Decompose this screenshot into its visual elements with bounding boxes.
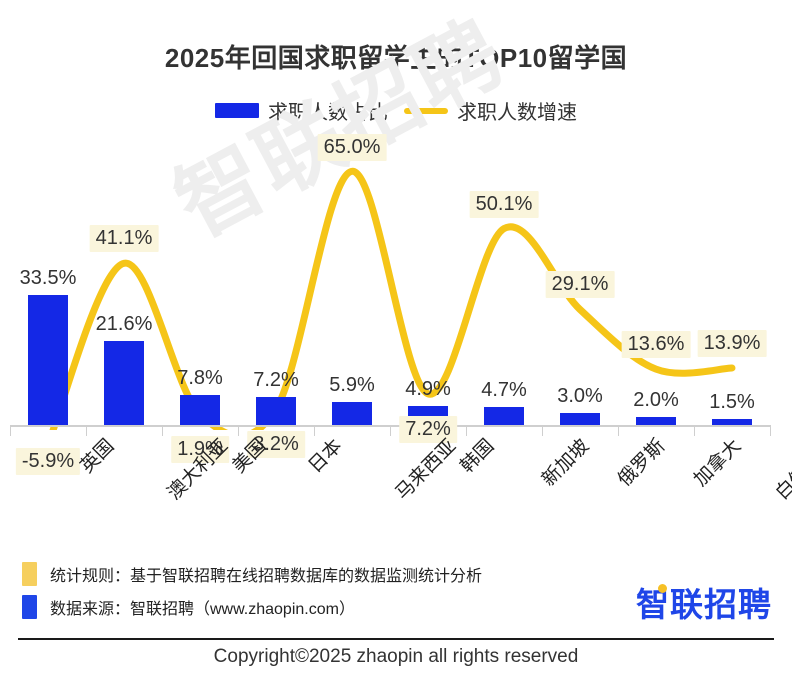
bar[interactable] [484,407,524,425]
line-value-label: 13.9% [698,330,767,357]
note-row: 统计规则：基于智联招聘在线招聘数据库的数据监测统计分析 [22,562,582,586]
x-axis-label-0: 英国 [73,432,119,478]
bar[interactable] [104,341,144,425]
footer-notes: 统计规则：基于智联招聘在线招聘数据库的数据监测统计分析 数据来源：智联招聘（ww… [22,562,582,628]
line-value-label: 50.1% [470,191,539,218]
footer-divider [18,638,774,640]
line-value-label: 29.1% [546,271,615,298]
brand-dot-icon [658,584,667,593]
x-axis-label-3: 日本 [301,432,347,478]
x-axis-label-6: 新加坡 [535,432,594,491]
x-axis-label-2: 美国 [225,432,271,478]
bar[interactable] [332,402,372,425]
bar[interactable] [28,295,68,425]
x-axis-label-9: 白俄罗斯 [768,432,792,505]
bar[interactable] [636,417,676,425]
note-marker-yellow-icon [22,562,37,586]
chart-page: 2025年回国求职留学生的TOP10留学国 求职人数占比 求职人数增速 智联招聘… [0,0,792,681]
bar-value-label: 1.5% [687,391,777,414]
bar[interactable] [712,419,752,425]
bar[interactable] [256,397,296,425]
note-marker-blue-icon [22,595,37,619]
x-axis-category-labels: 英国澳大利亚美国日本马来西亚韩国新加坡俄罗斯加拿大白俄罗斯 [0,432,792,542]
x-axis-label-1: 澳大利亚 [160,432,233,505]
plot-area: 智联招聘 33.5%21.6%7.8%7.2%5.9%4.9%4.7%3.0%2… [0,130,792,430]
x-axis-label-7: 俄罗斯 [611,432,670,491]
bar-value-label: 21.6% [79,313,169,336]
brand-logo-text: 智联招聘 [636,586,772,623]
note-text: 统计规则：基于智联招聘在线招聘数据库的数据监测统计分析 [50,562,482,586]
note-text: 数据来源：智联招聘（www.zhaopin.com） [50,595,355,619]
x-axis-label-5: 韩国 [453,432,499,478]
bar-value-label: 33.5% [3,267,93,290]
bar[interactable] [180,395,220,425]
x-axis-label-4: 马来西亚 [388,432,461,505]
brand-logo: 智联招聘 [636,578,772,626]
bar[interactable] [560,413,600,425]
line-value-label: 13.6% [622,331,691,358]
note-row: 数据来源：智联招聘（www.zhaopin.com） [22,595,582,619]
x-axis-label-8: 加拿大 [687,432,746,491]
line-value-label: 65.0% [318,134,387,161]
line-value-label: 41.1% [90,225,159,252]
copyright-text: Copyright©2025 zhaopin all rights reserv… [0,646,792,668]
